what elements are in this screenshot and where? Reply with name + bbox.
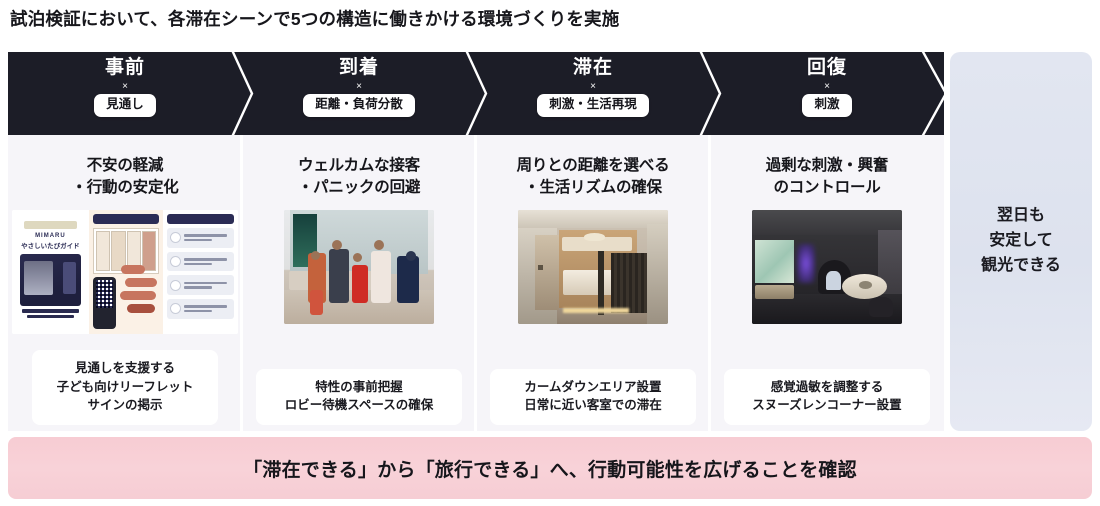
stage-cross-2: × [356, 81, 362, 92]
column-caption-4: 感覚過敏を調整する スヌーズレンコーナー設置 [724, 369, 930, 426]
stage-header-3[interactable]: 滞在 × 刺激・生活再現 [476, 52, 710, 135]
stage-header-4[interactable]: 回復 × 刺激 [710, 52, 944, 135]
stage-column-4: 過剰な刺激・興奮 のコントロール 感覚過敏を調整する スヌーズレンコーナー設置 [710, 135, 944, 431]
stage-name-1: 事前 [105, 57, 145, 80]
column-heading-4: 過剰な刺激・興奮 のコントロール [766, 155, 888, 200]
stage-column-3: 周りとの距離を選べる ・生活リズムの確保 カームダウンエリア [476, 135, 710, 431]
column-heading-1: 不安の軽減 ・行動の安定化 [71, 155, 178, 200]
stage-column-2: ウェルカムな接客 ・パニックの回避 [242, 135, 476, 431]
stage-header-2[interactable]: 到着 × 距離・負荷分散 [242, 52, 476, 135]
leaflet-illustration: MIMARU やさしいたびガイド [12, 210, 238, 334]
leaflet-map-panel [89, 210, 164, 334]
stage-pill-4: 刺激 [802, 94, 851, 117]
qr-phone-icon [93, 277, 115, 329]
stage-cross-3: × [590, 81, 596, 92]
stage-cross-4: × [824, 81, 830, 92]
stage-cross-1: × [122, 81, 128, 92]
stage-pill-3: 刺激・生活再現 [537, 94, 649, 117]
stage-name-4: 回復 [807, 57, 847, 80]
outcome-panel: 翌日も 安定して 観光できる [950, 52, 1092, 431]
page-title: 試泊検証において、各滞在シーンで5つの構造に働きかける環境づくりを実施 [10, 6, 619, 31]
leaflet-tag [24, 221, 76, 229]
leaflet-brand: MIMARU [35, 233, 66, 239]
snoezelen-room-photo [752, 210, 902, 324]
conclusion-text: 「滞在できる」から「旅行できる」へ、行動可能性を広げることを確認 [243, 455, 857, 482]
stage-name-2: 到着 [339, 57, 379, 80]
stage-header-1[interactable]: 事前 × 見通し [8, 52, 242, 135]
outcome-text: 翌日も 安定して 観光できる [981, 204, 1061, 278]
leaflet-cover-card [20, 254, 81, 306]
stage-body: 不安の軽減 ・行動の安定化 MIMARU やさしいたびガイド [8, 135, 944, 431]
column-caption-3: カームダウンエリア設置 日常に近い客室での滞在 [490, 369, 696, 426]
stage-header-bar: 事前 × 見通し 到着 × 距離・負荷分散 滞在 × 刺激・生活再現 回復 × … [8, 52, 944, 135]
stage-name-3: 滞在 [573, 57, 613, 80]
column-caption-1: 見通しを支援する 子ども向けリーフレット サインの掲示 [32, 350, 218, 425]
stage-pill-2: 距離・負荷分散 [303, 94, 415, 117]
conclusion-banner: 「滞在できる」から「旅行できる」へ、行動可能性を広げることを確認 [8, 437, 1092, 499]
stage-pill-1: 見通し [94, 94, 156, 117]
leaflet-checklist-panel [163, 210, 238, 334]
stage-column-1: 不安の軽減 ・行動の安定化 MIMARU やさしいたびガイド [8, 135, 242, 431]
bunk-room-photo [518, 210, 668, 324]
column-caption-2: 特性の事前把握 ロビー待機スペースの確保 [256, 369, 462, 426]
column-heading-3: 周りとの距離を選べる ・生活リズムの確保 [517, 155, 670, 200]
journey-board: 事前 × 見通し 到着 × 距離・負荷分散 滞在 × 刺激・生活再現 回復 × … [8, 52, 944, 431]
lobby-family-photo [284, 210, 434, 324]
column-heading-2: ウェルカムな接客 ・パニックの回避 [298, 155, 420, 200]
leaflet-subtitle: やさしいたびガイド [21, 240, 80, 250]
